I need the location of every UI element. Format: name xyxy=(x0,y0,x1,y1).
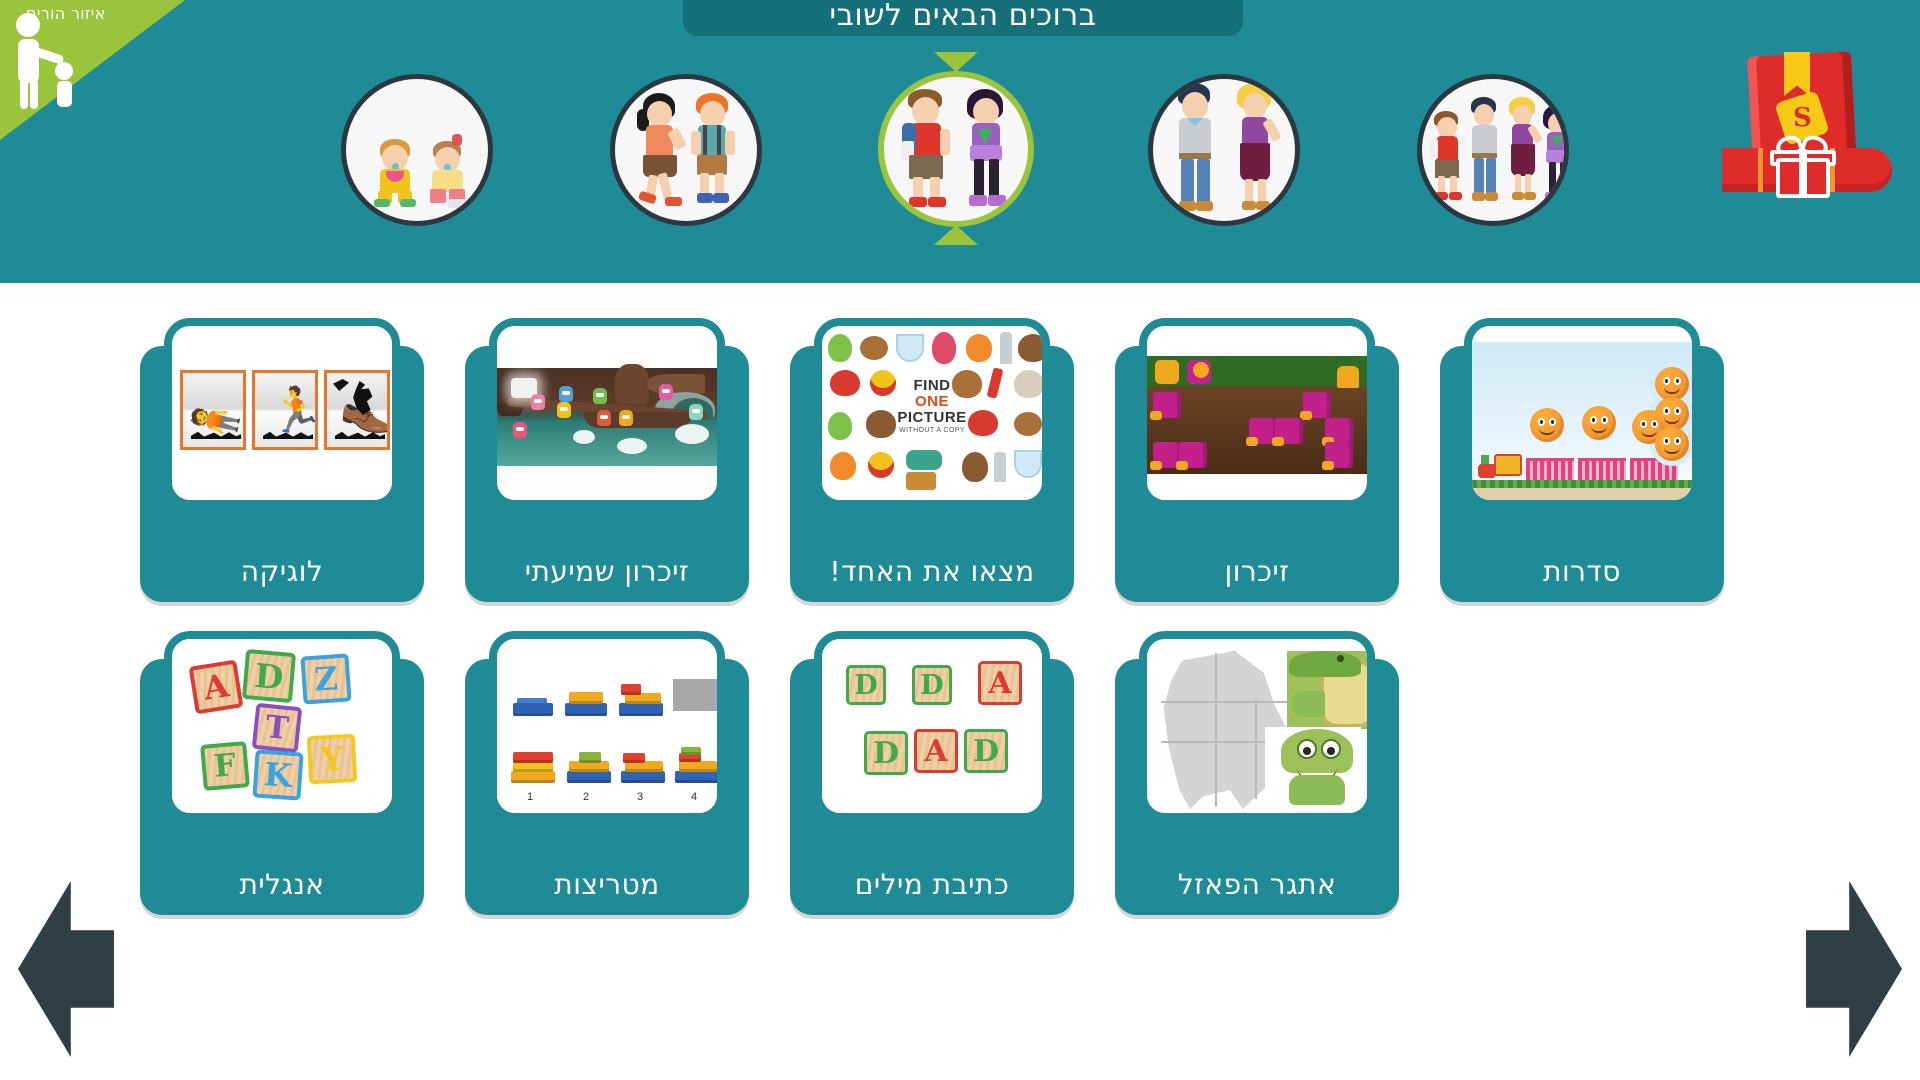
letter-block: F xyxy=(200,741,250,791)
parent-and-child-icon xyxy=(6,9,88,119)
thumbnail-lego-brick-matrix: 1 2 3 4 xyxy=(497,639,717,813)
parents-area-label: איזור הורים xyxy=(26,4,106,23)
selected-marker-bottom xyxy=(934,225,978,245)
logic-frame-3: 👞 xyxy=(324,370,390,450)
game-row-1: סדרות xyxy=(140,318,1760,631)
girl-and-boy-running-icon xyxy=(615,79,757,221)
rewards-button[interactable]: S xyxy=(1722,52,1892,212)
thumbnail-letter-blocks-dad: D D A D A D xyxy=(822,639,1042,813)
logic-frame-2: 🏃 xyxy=(252,370,318,450)
app-header: ברוכים הבאים לשובי xyxy=(0,0,1920,283)
game-card-puzzle-challenge[interactable]: אתגר הפאזל xyxy=(1115,631,1399,915)
letter-block: Z xyxy=(300,653,351,704)
game-label-logic: לוגיקה xyxy=(140,555,424,588)
logic-frame-1: 🧍 xyxy=(180,370,246,450)
age-group-teens[interactable] xyxy=(1148,74,1300,226)
selected-marker-top xyxy=(934,52,978,72)
thumbnail-turtle-jigsaw-puzzle xyxy=(1147,639,1367,813)
letter-block: D xyxy=(912,665,952,705)
next-page-arrow[interactable] xyxy=(1806,881,1902,1057)
game-label-word-writing: כתיבת מילים xyxy=(790,868,1074,901)
game-label-puzzle-challenge: אתגר הפאזל xyxy=(1115,868,1399,901)
title-panel: ברוכים הבאים לשובי xyxy=(683,0,1243,36)
thumbnail-train-with-smiley-faces xyxy=(1472,326,1692,500)
family-of-four-icon xyxy=(1422,79,1564,221)
game-card-auditory-memory[interactable]: זיכרון שמיעתי xyxy=(465,318,749,602)
prev-page-arrow[interactable] xyxy=(18,881,114,1057)
game-card-sequences[interactable]: סדרות xyxy=(1440,318,1724,602)
letter-block: D xyxy=(846,665,886,705)
matrix-option-number: 3 xyxy=(637,791,643,803)
game-card-logic[interactable]: 🧍 🏃 👞 xyxy=(140,318,424,602)
letter-block: Y xyxy=(307,734,357,784)
age-group-family[interactable] xyxy=(1417,74,1569,226)
game-label-matrices: מטריצות xyxy=(465,868,749,901)
thumbnail-three-silhouette-frames: 🧍 🏃 👞 xyxy=(172,326,392,500)
game-label-find-one: מצאו את האחד! xyxy=(790,555,1074,588)
thumbnail-alphabet-blocks: A D Z T F K Y xyxy=(172,639,392,813)
letter-block: T xyxy=(252,703,303,754)
gift-icon xyxy=(1768,136,1838,198)
game-catalog: סדרות xyxy=(0,283,1920,1080)
matrix-option-number: 1 xyxy=(527,791,533,803)
boy-and-girl-students-icon xyxy=(884,77,1028,221)
age-group-selector xyxy=(0,66,1920,241)
matrix-option-number: 4 xyxy=(691,791,697,803)
age-group-toddlers[interactable] xyxy=(341,74,493,226)
age-group-young-kids[interactable] xyxy=(610,74,762,226)
game-label-sequences: סדרות xyxy=(1440,555,1724,588)
game-label-auditory-memory: זיכרון שמיעתי xyxy=(465,555,749,588)
game-grid: סדרות xyxy=(140,318,1760,944)
letter-block: D xyxy=(242,649,296,703)
rewards-badge-letter: S xyxy=(1793,103,1812,133)
thumbnail-caption: FIND ONE PICTURE WITHOUT A COPY xyxy=(897,378,966,434)
arrow-right-icon xyxy=(1806,881,1902,1057)
thumbnail-cave-river-creatures xyxy=(497,326,717,500)
app-root: ברוכים הבאים לשובי xyxy=(0,0,1920,1080)
thumbnail-memory-cards-dirt-field xyxy=(1147,326,1367,500)
game-card-word-writing[interactable]: D D A D A D כתיבת מילים xyxy=(790,631,1074,915)
game-row-2: אתגר הפאזל D D A D A D xyxy=(140,631,1760,944)
letter-block: A xyxy=(189,660,244,715)
age-group-school-kids[interactable] xyxy=(878,71,1034,227)
game-card-find-one[interactable]: FIND ONE PICTURE WITHOUT A COPY מצאו את … xyxy=(790,318,1074,602)
matrix-missing-cell xyxy=(673,679,717,711)
letter-block: D xyxy=(864,731,908,775)
arrow-left-icon xyxy=(18,881,114,1057)
parents-area-button[interactable]: איזור הורים xyxy=(0,0,185,140)
two-toddlers-icon xyxy=(346,79,488,221)
letter-block: D xyxy=(964,729,1008,773)
game-card-memory[interactable]: זיכרון xyxy=(1115,318,1399,602)
game-card-matrices[interactable]: 1 2 3 4 מטריצות xyxy=(465,631,749,915)
man-and-woman-icon xyxy=(1153,79,1295,221)
game-label-english: אנגלית xyxy=(140,868,424,901)
letter-block: K xyxy=(252,749,303,800)
game-card-english[interactable]: A D Z T F K Y אנגלית xyxy=(140,631,424,915)
thumbnail-sticker-collage-find-one: FIND ONE PICTURE WITHOUT A COPY xyxy=(822,326,1042,500)
game-label-memory: זיכרון xyxy=(1115,555,1399,588)
letter-block: A xyxy=(914,729,958,773)
matrix-option-number: 2 xyxy=(583,791,589,803)
page-title: ברוכים הבאים לשובי xyxy=(829,0,1096,33)
letter-block: A xyxy=(978,661,1022,705)
